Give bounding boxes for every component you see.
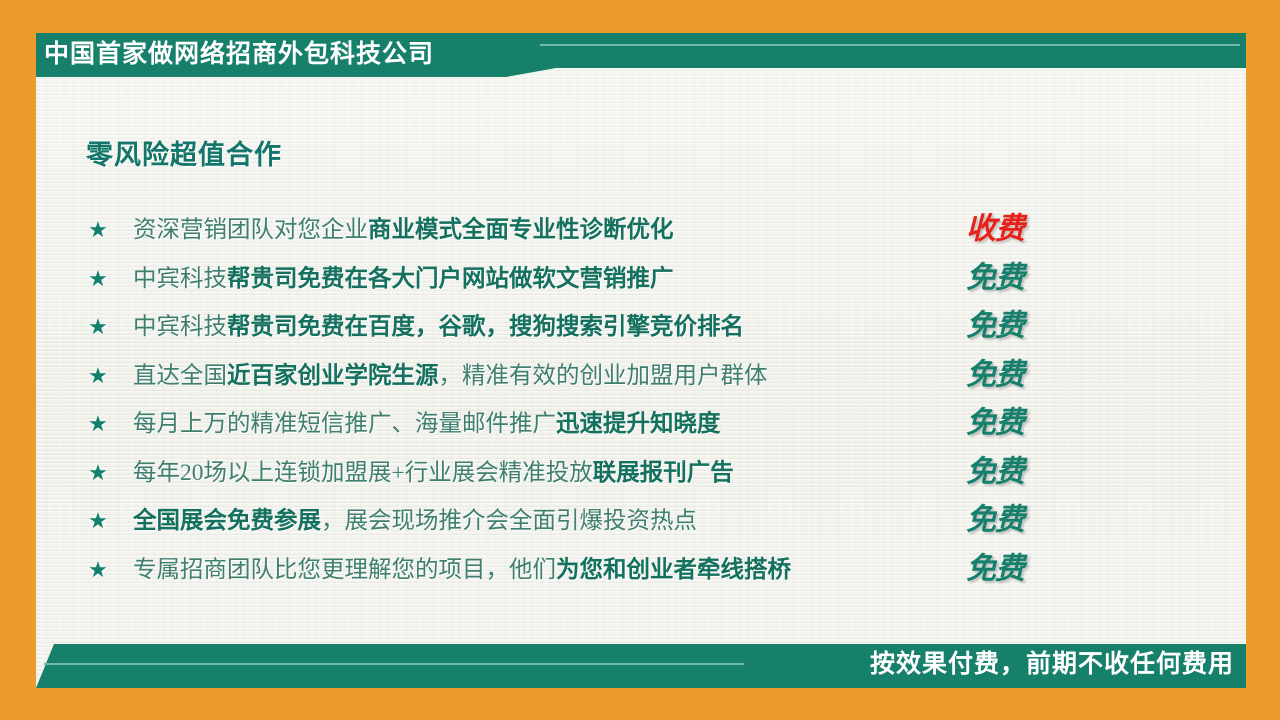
- section-title: 零风险超值合作: [86, 138, 282, 172]
- fee-label: 免费: [966, 358, 1086, 392]
- benefit-text-plain: 直达全国: [133, 363, 227, 389]
- star-bullet-icon: ★: [86, 219, 110, 241]
- benefit-text: 直达全国近百家创业学院生源，精准有效的创业加盟用户群体: [133, 361, 768, 391]
- benefit-text: 中宾科技帮贵司免费在各大门户网站做软文营销推广: [133, 264, 674, 294]
- benefit-text-plain: 中宾科技: [133, 314, 227, 340]
- fee-label: 免费: [966, 407, 1086, 441]
- fee-label: 收费: [966, 213, 1086, 247]
- fee-label: 免费: [966, 455, 1086, 489]
- benefit-text-emphasis: 全国展会免费参展: [133, 508, 321, 534]
- star-bullet-icon: ★: [86, 510, 110, 532]
- benefit-text-emphasis: 为您和创业者牵线搭桥: [556, 557, 791, 583]
- star-bullet-icon: ★: [86, 268, 110, 290]
- benefit-text: 中宾科技帮贵司免费在百度，谷歌，搜狗搜索引擎竞价排名: [133, 312, 744, 342]
- benefit-text-plain: 资深营销团队对您企业: [133, 217, 368, 243]
- benefit-text-emphasis: 帮贵司免费在各大门户网站做软文营销推广: [227, 266, 674, 292]
- header-hairline-divider: [540, 44, 1240, 46]
- benefit-text-emphasis: 联展报刊广告: [593, 460, 734, 486]
- benefit-row: ★每月上万的精准短信推广、海量邮件推广迅速提升知晓度免费: [86, 400, 1146, 449]
- benefit-text-emphasis: 迅速提升知晓度: [556, 411, 721, 437]
- benefit-list: ★资深营销团队对您企业商业模式全面专业性诊断优化收费★中宾科技帮贵司免费在各大门…: [86, 206, 1146, 594]
- benefit-row: ★中宾科技帮贵司免费在百度，谷歌，搜狗搜索引擎竞价排名免费: [86, 303, 1146, 352]
- benefit-row: ★直达全国近百家创业学院生源，精准有效的创业加盟用户群体免费: [86, 352, 1146, 401]
- benefit-text-plain: 专属招商团队比您更理解您的项目，他们: [133, 557, 556, 583]
- benefit-text-tail: ，展会现场推介会全面引爆投资热点: [321, 508, 697, 534]
- benefit-text-emphasis: 近百家创业学院生源: [227, 363, 439, 389]
- star-bullet-icon: ★: [86, 462, 110, 484]
- fee-label: 免费: [966, 504, 1086, 538]
- benefit-row: ★每年20场以上连锁加盟展+行业展会精准投放联展报刊广告免费: [86, 449, 1146, 498]
- benefit-text: 每月上万的精准短信推广、海量邮件推广迅速提升知晓度: [133, 409, 721, 439]
- star-bullet-icon: ★: [86, 316, 110, 338]
- benefit-text: 专属招商团队比您更理解您的项目，他们为您和创业者牵线搭桥: [133, 555, 791, 585]
- slide-root: 中国首家做网络招商外包科技公司 零风险超值合作 ★资深营销团队对您企业商业模式全…: [0, 0, 1280, 720]
- benefit-text: 资深营销团队对您企业商业模式全面专业性诊断优化: [133, 215, 674, 245]
- benefit-text-plain: 每月上万的精准短信推广、海量邮件推广: [133, 411, 556, 437]
- fee-label: 免费: [966, 552, 1086, 586]
- footer-tagline: 按效果付费，前期不收任何费用: [870, 648, 1234, 680]
- benefit-text: 每年20场以上连锁加盟展+行业展会精准投放联展报刊广告: [133, 458, 734, 488]
- star-bullet-icon: ★: [86, 559, 110, 581]
- star-bullet-icon: ★: [86, 413, 110, 435]
- benefit-row: ★资深营销团队对您企业商业模式全面专业性诊断优化收费: [86, 206, 1146, 255]
- benefit-row: ★专属招商团队比您更理解您的项目，他们为您和创业者牵线搭桥免费: [86, 546, 1146, 595]
- star-bullet-icon: ★: [86, 365, 110, 387]
- benefit-text-plain: 中宾科技: [133, 266, 227, 292]
- benefit-text-plain: 每年20场以上连锁加盟展+行业展会精准投放: [133, 460, 593, 486]
- benefit-text: 全国展会免费参展，展会现场推介会全面引爆投资热点: [133, 506, 697, 536]
- fee-label: 免费: [966, 310, 1086, 344]
- benefit-text-emphasis: 帮贵司免费在百度，谷歌，搜狗搜索引擎竞价排名: [227, 314, 744, 340]
- footer-hairline-divider: [44, 663, 744, 665]
- benefit-row: ★全国展会免费参展，展会现场推介会全面引爆投资热点免费: [86, 497, 1146, 546]
- fee-label: 免费: [966, 261, 1086, 295]
- benefit-text-tail: ，精准有效的创业加盟用户群体: [439, 363, 768, 389]
- benefit-row: ★中宾科技帮贵司免费在各大门户网站做软文营销推广免费: [86, 255, 1146, 304]
- header-title: 中国首家做网络招商外包科技公司: [44, 39, 434, 70]
- benefit-text-emphasis: 商业模式全面专业性诊断优化: [368, 217, 674, 243]
